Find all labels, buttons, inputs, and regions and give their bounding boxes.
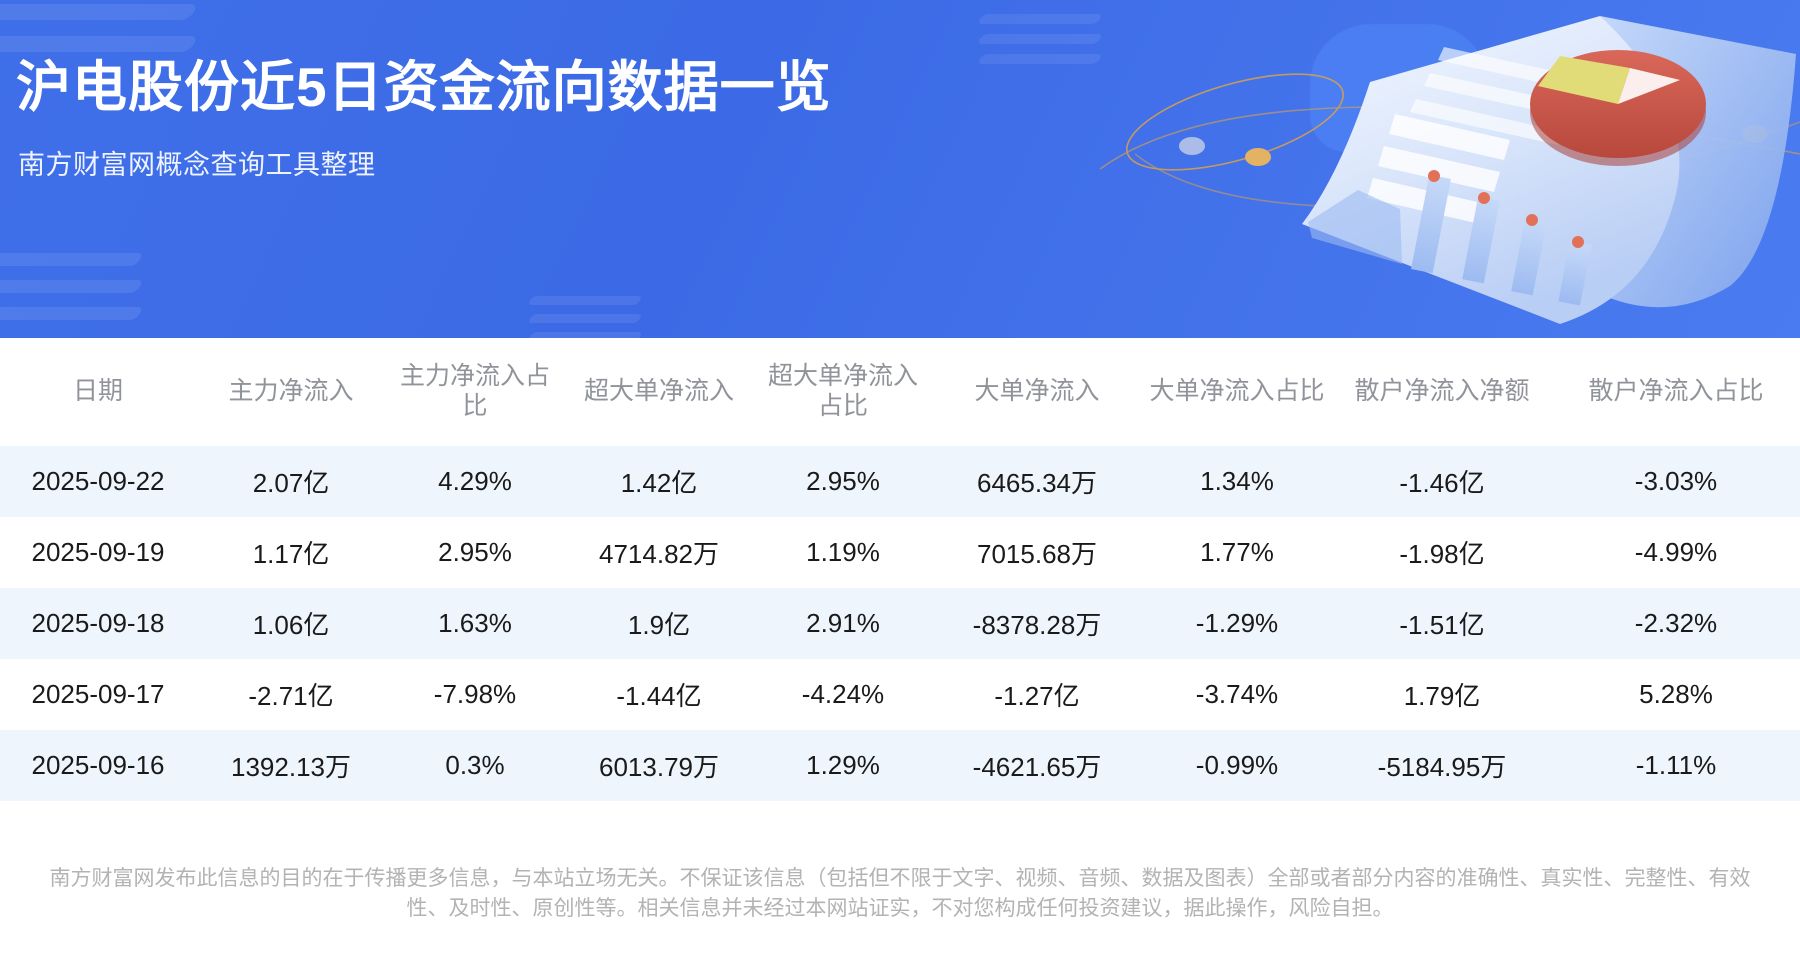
table-row: 2025-09-19 1.17亿 2.95% 4714.82万 1.19% 70… bbox=[0, 517, 1800, 588]
column-header-xlarge-net-inflow: 超大单净流入 bbox=[564, 338, 754, 446]
cell-main-net-ratio: 0.3% bbox=[386, 730, 564, 801]
cell-main-net-inflow: 1.17亿 bbox=[196, 517, 386, 588]
cell-retail-net-ratio: -3.03% bbox=[1552, 446, 1800, 517]
table-body: 2025-09-22 2.07亿 4.29% 1.42亿 2.95% 6465.… bbox=[0, 446, 1800, 801]
cell-main-net-inflow: 1.06亿 bbox=[196, 588, 386, 659]
cell-retail-net-amount: -1.46亿 bbox=[1332, 446, 1552, 517]
cell-xlarge-net-inflow: 1.9亿 bbox=[564, 588, 754, 659]
cell-retail-net-ratio: -4.99% bbox=[1552, 517, 1800, 588]
cell-retail-net-amount: 1.79亿 bbox=[1332, 659, 1552, 730]
cell-xlarge-net-ratio: 2.91% bbox=[754, 588, 932, 659]
cell-main-net-inflow: 2.07亿 bbox=[196, 446, 386, 517]
decorative-stripes-bottom-left bbox=[0, 253, 140, 334]
disclaimer-footer: 南方财富网发布此信息的目的在于传播更多信息，与本站立场无关。不保证该信息（包括但… bbox=[0, 854, 1800, 925]
cell-date: 2025-09-22 bbox=[0, 446, 196, 517]
column-header-large-net-inflow: 大单净流入 bbox=[932, 338, 1142, 446]
fund-flow-table: 日期 主力净流入 主力净流入占比 超大单净流入 超大单净流入占比 大单净流入 大… bbox=[0, 338, 1800, 801]
page-header-banner: 沪电股份近5日资金流向数据一览 南方财富网概念查询工具整理 bbox=[0, 0, 1800, 338]
cell-large-net-ratio: 1.77% bbox=[1142, 517, 1332, 588]
cell-date: 2025-09-17 bbox=[0, 659, 196, 730]
table-header-row: 日期 主力净流入 主力净流入占比 超大单净流入 超大单净流入占比 大单净流入 大… bbox=[0, 338, 1800, 446]
cell-large-net-inflow: -4621.65万 bbox=[932, 730, 1142, 801]
column-header-main-net-inflow: 主力净流入 bbox=[196, 338, 386, 446]
column-header-large-net-ratio: 大单净流入占比 bbox=[1142, 338, 1332, 446]
cell-main-net-inflow: 1392.13万 bbox=[196, 730, 386, 801]
cell-large-net-ratio: -3.74% bbox=[1142, 659, 1332, 730]
cell-main-net-inflow: -2.71亿 bbox=[196, 659, 386, 730]
cell-large-net-ratio: -0.99% bbox=[1142, 730, 1332, 801]
disclaimer-line-2: 性、及时性、原创性等。相关信息并未经过本网站证实，不对您构成任何投资建议，据此操… bbox=[14, 894, 1786, 924]
column-header-main-net-ratio: 主力净流入占比 bbox=[386, 338, 564, 446]
cell-main-net-ratio: 1.63% bbox=[386, 588, 564, 659]
cell-large-net-ratio: 1.34% bbox=[1142, 446, 1332, 517]
cell-retail-net-ratio: -1.11% bbox=[1552, 730, 1800, 801]
column-header-xlarge-net-ratio: 超大单净流入占比 bbox=[754, 338, 932, 446]
report-illustration-icon bbox=[1040, 0, 1800, 324]
cell-xlarge-net-ratio: 2.95% bbox=[754, 446, 932, 517]
column-header-retail-net-ratio: 散户净流入占比 bbox=[1552, 338, 1800, 446]
cell-retail-net-amount: -1.51亿 bbox=[1332, 588, 1552, 659]
table-row: 2025-09-17 -2.71亿 -7.98% -1.44亿 -4.24% -… bbox=[0, 659, 1800, 730]
cell-xlarge-net-inflow: -1.44亿 bbox=[564, 659, 754, 730]
cell-xlarge-net-inflow: 4714.82万 bbox=[564, 517, 754, 588]
cell-date: 2025-09-16 bbox=[0, 730, 196, 801]
cell-main-net-ratio: 4.29% bbox=[386, 446, 564, 517]
cell-large-net-inflow: -8378.28万 bbox=[932, 588, 1142, 659]
cell-retail-net-amount: -5184.95万 bbox=[1332, 730, 1552, 801]
cell-large-net-inflow: 7015.68万 bbox=[932, 517, 1142, 588]
page-title: 沪电股份近5日资金流向数据一览 bbox=[16, 56, 832, 119]
column-header-retail-net-amount: 散户净流入净额 bbox=[1332, 338, 1552, 446]
cell-date: 2025-09-18 bbox=[0, 588, 196, 659]
cell-main-net-ratio: 2.95% bbox=[386, 517, 564, 588]
page-subtitle: 南方财富网概念查询工具整理 bbox=[18, 143, 376, 182]
fund-flow-table-container: 南方财富网 Southmoney.com 日期 主力净流入 主力净流入占比 超大… bbox=[0, 338, 1800, 854]
cell-large-net-inflow: 6465.34万 bbox=[932, 446, 1142, 517]
pie-chart-icon bbox=[1530, 50, 1706, 166]
cell-retail-net-amount: -1.98亿 bbox=[1332, 517, 1552, 588]
table-row: 2025-09-16 1392.13万 0.3% 6013.79万 1.29% … bbox=[0, 730, 1800, 801]
cell-retail-net-ratio: 5.28% bbox=[1552, 659, 1800, 730]
cell-xlarge-net-ratio: -4.24% bbox=[754, 659, 932, 730]
table-row: 2025-09-22 2.07亿 4.29% 1.42亿 2.95% 6465.… bbox=[0, 446, 1800, 517]
cell-main-net-ratio: -7.98% bbox=[386, 659, 564, 730]
cell-date: 2025-09-19 bbox=[0, 517, 196, 588]
decorative-stripes-middle bbox=[530, 296, 640, 338]
cell-large-net-inflow: -1.27亿 bbox=[932, 659, 1142, 730]
table-row: 2025-09-18 1.06亿 1.63% 1.9亿 2.91% -8378.… bbox=[0, 588, 1800, 659]
cell-retail-net-ratio: -2.32% bbox=[1552, 588, 1800, 659]
cell-xlarge-net-inflow: 1.42亿 bbox=[564, 446, 754, 517]
cell-xlarge-net-ratio: 1.29% bbox=[754, 730, 932, 801]
column-header-date: 日期 bbox=[0, 338, 196, 446]
cell-xlarge-net-ratio: 1.19% bbox=[754, 517, 932, 588]
cell-xlarge-net-inflow: 6013.79万 bbox=[564, 730, 754, 801]
cell-large-net-ratio: -1.29% bbox=[1142, 588, 1332, 659]
disclaimer-line-1: 南方财富网发布此信息的目的在于传播更多信息，与本站立场无关。不保证该信息（包括但… bbox=[14, 864, 1786, 894]
